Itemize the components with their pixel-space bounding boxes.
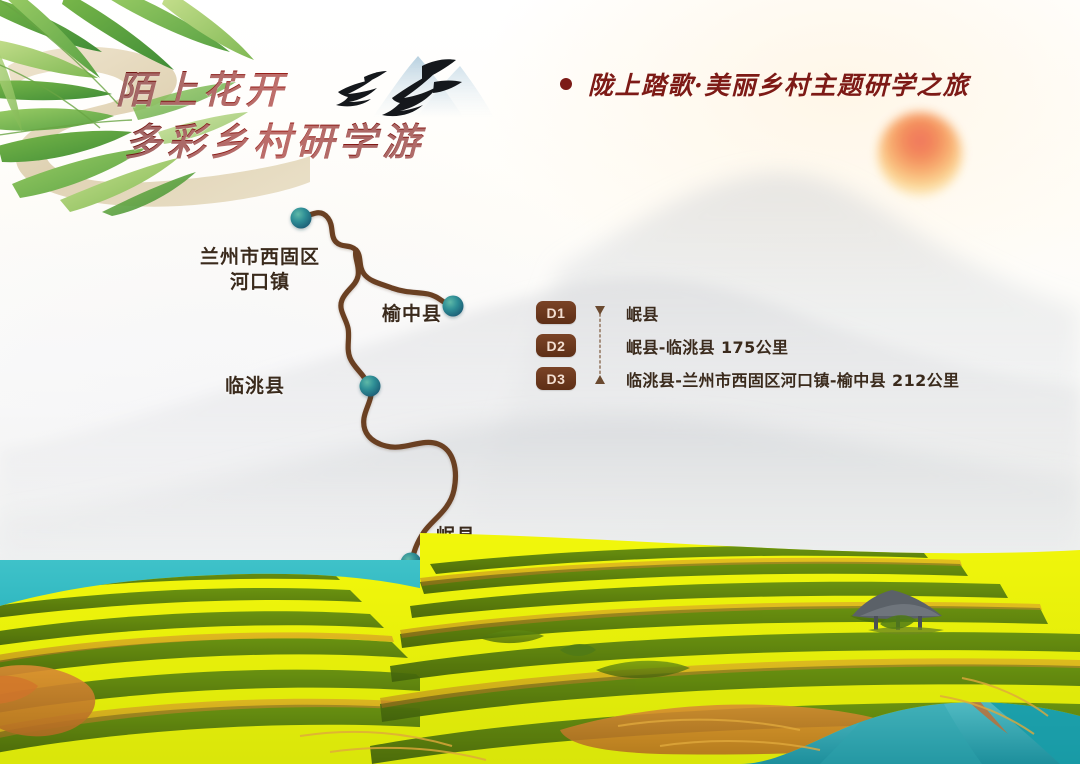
legend-text-d2: 岷县-临洮县 175公里 xyxy=(626,334,788,358)
poster-subtitle: 陇上踏歌·美丽乡村主题研学之旅 xyxy=(560,66,969,102)
map-label-hekou-line2: 河口镇 xyxy=(190,270,330,295)
map-label-yuzhong: 榆中县 xyxy=(382,302,442,327)
marker-yuzhong xyxy=(443,296,464,317)
poster-headline: 陌上花开 多彩乡村研学游 xyxy=(116,64,536,169)
map-label-hekou-line1: 兰州市西固区 xyxy=(190,245,330,270)
headline-line-2: 多彩乡村研学游 xyxy=(124,116,536,168)
legend-badge-d1: D1 xyxy=(536,301,576,324)
bullet-dot-icon xyxy=(560,78,572,90)
subtitle-text: 陇上踏歌·美丽乡村主题研学之旅 xyxy=(588,66,969,102)
itinerary-legend: D1 岷县 D2 岷县-临洮县 175公里 D3 临洮县-兰州市西固区河口镇-榆… xyxy=(536,296,1006,395)
legend-badge-d3: D3 xyxy=(536,367,576,390)
map-label-hekou: 兰州市西固区 河口镇 xyxy=(190,245,330,294)
marker-hekou xyxy=(291,208,312,229)
marker-lintao xyxy=(360,376,381,397)
legend-row-d2[interactable]: D2 岷县-临洮县 175公里 xyxy=(536,329,1006,362)
legend-text-d3: 临洮县-兰州市西固区河口镇-榆中县 212公里 xyxy=(626,367,959,391)
headline-line-1: 陌上花开 xyxy=(116,64,536,116)
legend-row-d1[interactable]: D1 岷县 xyxy=(536,296,1006,329)
legend-badge-d2: D2 xyxy=(536,334,576,357)
terraced-fields-landscape xyxy=(0,520,1080,764)
legend-row-d3[interactable]: D3 临洮县-兰州市西固区河口镇-榆中县 212公里 xyxy=(536,362,1006,395)
sun-icon xyxy=(878,112,962,196)
poster-canvas: 陌上花开 多彩乡村研学游 陇上踏歌·美丽乡村主题研学之旅 xyxy=(0,0,1080,764)
legend-text-d1: 岷县 xyxy=(626,301,659,325)
map-label-lintao: 临洮县 xyxy=(225,374,285,399)
